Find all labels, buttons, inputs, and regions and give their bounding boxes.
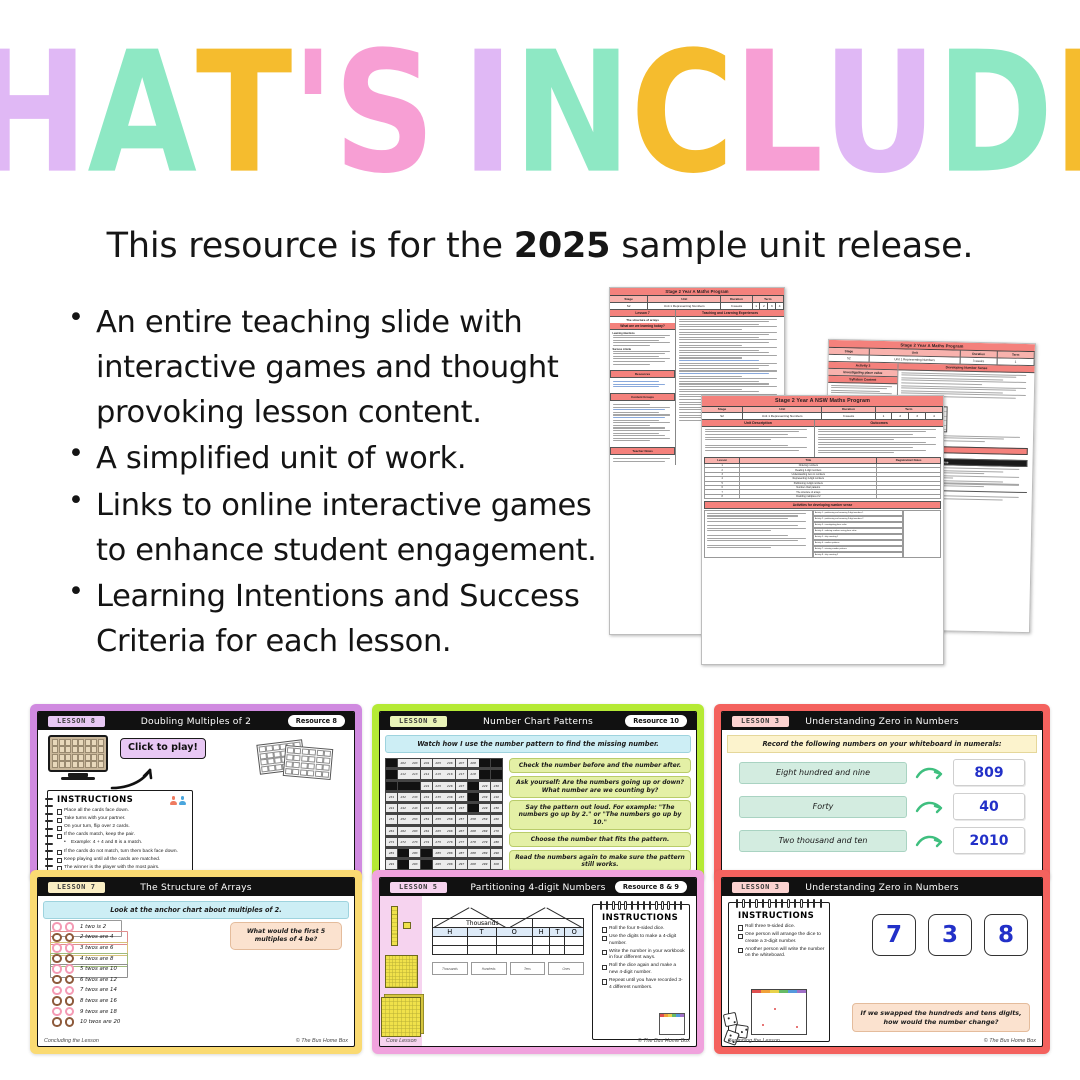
col-stage: Stage: [610, 296, 648, 302]
instruction-banner: Look at the anchor chart about multiples…: [43, 901, 349, 919]
feature-bullet: Learning Intentions and Success Criteria…: [62, 574, 622, 664]
digit-box[interactable]: 8: [984, 914, 1028, 956]
chart-cell[interactable]: 296: [444, 860, 455, 868]
anchor-row-label: 10 twos are 20: [80, 1019, 120, 1025]
donut-counter-icon: [65, 964, 75, 974]
thought-bubble-question: What would the first 5 multiples of 4 be…: [230, 922, 342, 950]
instruction-banner: Watch how I use the number pattern to fi…: [385, 735, 691, 753]
anchor-chart-row: 9 twos are 18: [52, 1007, 120, 1017]
document-thumbnail-cluster: Stage 2 Year A Maths Program Stage Unit …: [605, 283, 1075, 678]
chart-cell[interactable]: 255: [433, 815, 444, 823]
chart-cell[interactable]: 299: [479, 860, 490, 868]
spiral-binding-icon: [734, 899, 824, 907]
doc-a-title: Stage 2 Year A Maths Program: [610, 288, 784, 296]
instruction-item: Roll the dice again and make a new 4-dig…: [602, 963, 685, 976]
chart-cell[interactable]: 216: [444, 770, 455, 778]
val-duration: 3 weeks: [960, 358, 997, 364]
donut-counter-icon: [65, 986, 75, 996]
feature-bullet: An entire teaching slide with interactiv…: [62, 300, 622, 435]
numeral-box: 2010: [953, 827, 1025, 854]
chart-cell[interactable]: 212: [398, 770, 409, 778]
chart-cell[interactable]: 240: [491, 793, 502, 801]
chart-cell[interactable]: 260: [491, 815, 502, 823]
title-letter-4: 'S: [292, 30, 435, 197]
anchor-chart-row: 8 twos are 16: [52, 996, 120, 1006]
donut-counter-icon: [52, 954, 62, 964]
donut-counter-icon: [52, 975, 62, 985]
anchor-row-label: 1 two is 2: [80, 924, 106, 930]
pattern-tip: Say the pattern out loud. For example: "…: [509, 800, 691, 830]
chart-cell[interactable]: 230: [491, 782, 502, 790]
chart-cell[interactable]: 236: [444, 793, 455, 801]
chart-cell[interactable]: 298: [468, 860, 479, 868]
chart-cell[interactable]: 264: [421, 827, 432, 835]
chart-cell[interactable]: 239: [479, 793, 490, 801]
doc-c-activities-header: Activities for developing number sense: [704, 501, 941, 509]
numeral-box: 40: [953, 793, 1025, 820]
chart-cell-masked[interactable]: 209: [479, 759, 490, 767]
chart-cell[interactable]: 242: [398, 804, 409, 812]
anchor-chart-row: 3 twos are 6: [52, 943, 120, 953]
chart-cell[interactable]: 266: [444, 827, 455, 835]
instruction-item: If the cards do not match, turn them bac…: [57, 849, 188, 856]
val-term-1: 1: [876, 413, 893, 419]
card-footer: Concluding the Lesson © The Bus Home Box: [38, 1035, 354, 1046]
instructions-heading: INSTRUCTIONS: [738, 911, 829, 921]
chart-cell[interactable]: 278: [468, 838, 479, 846]
marker-strip: [752, 990, 806, 993]
card-pink-topbar: LESSON 5 Partitioning 4-digit Numbers Re…: [380, 878, 696, 896]
card-yellow-topbar: LESSON 7 The Structure of Arrays: [38, 878, 354, 896]
subtitle-after: sample unit release.: [610, 226, 973, 266]
doc-c-outcomes: Outcomes: [815, 420, 943, 427]
chart-cell[interactable]: 208: [468, 759, 479, 767]
chart-cell[interactable]: 291: [386, 860, 397, 868]
anchor-row-label: 9 twos are 18: [80, 1009, 117, 1015]
title-letter-5: I: [462, 30, 514, 197]
lesson-badge: LESSON 7: [47, 881, 106, 894]
val-stage: S2: [702, 413, 743, 419]
anchor-chart-row: 1 two is 2: [52, 922, 120, 932]
chart-cell-masked[interactable]: 211: [386, 770, 397, 778]
chart-cell[interactable]: 283: [409, 849, 420, 857]
lesson-badge: LESSON 5: [389, 881, 448, 894]
chart-cell[interactable]: 232: [398, 793, 409, 801]
number-word-box: Two thousand and ten: [739, 830, 907, 852]
pv-column-letter: H: [433, 928, 468, 937]
two-players-icon: [170, 796, 186, 805]
spiral-binding-icon: [598, 901, 684, 909]
pattern-tip: Read the numbers again to make sure the …: [509, 850, 691, 872]
donut-counter-icon: [65, 922, 75, 932]
chart-cell-masked[interactable]: 294: [421, 860, 432, 868]
chart-cell-masked[interactable]: 284: [421, 849, 432, 857]
chart-cell[interactable]: 293: [409, 860, 420, 868]
chart-cell[interactable]: 203: [409, 759, 420, 767]
chart-cell[interactable]: 243: [409, 804, 420, 812]
chart-cell[interactable]: 233: [409, 793, 420, 801]
curved-arrow-icon: [110, 764, 156, 790]
chart-cell-masked[interactable]: 219: [479, 770, 490, 778]
pv-column-letter: T: [550, 928, 565, 937]
slide-card-structure-of-arrays[interactable]: LESSON 7 The Structure of Arrays Look at…: [30, 870, 362, 1054]
lesson-badge: LESSON 3: [731, 881, 790, 894]
lesson-badge: LESSON 3: [731, 715, 790, 728]
donut-counter-icon: [52, 1017, 62, 1027]
anchor-chart-row: 4 twos are 8: [52, 954, 120, 964]
chart-cell[interactable]: 300: [491, 860, 502, 868]
chart-cell[interactable]: 281: [386, 849, 397, 857]
chart-cell-masked[interactable]: 238: [468, 793, 479, 801]
hundred-number-chart[interactable]: 2012022032042052062072082092102112122132…: [385, 758, 503, 872]
chart-cell[interactable]: 225: [433, 782, 444, 790]
val-duration: 3 weeks: [822, 413, 875, 419]
donut-counter-icon: [65, 975, 75, 985]
chart-cell[interactable]: 261: [386, 827, 397, 835]
instruction-item: Write the number in your workbook in fou…: [602, 949, 685, 962]
val-stage: S2: [610, 303, 648, 309]
chart-cell[interactable]: 267: [456, 827, 467, 835]
slide-card-partitioning-4-digit[interactable]: LESSON 5 Partitioning 4-digit Numbers Re…: [372, 870, 704, 1054]
chart-cell-masked[interactable]: 221: [386, 782, 397, 790]
anchor-chart-row: 7 twos are 14: [52, 986, 120, 996]
chart-cell[interactable]: 250: [491, 804, 502, 812]
chart-cell[interactable]: 224: [421, 782, 432, 790]
title-letter-2: A: [88, 30, 196, 197]
doc-c-lesson-rows: 1Ordering numbers2Reading 4-digit number…: [705, 464, 941, 499]
green-arrow-icon: [915, 765, 945, 781]
chart-cell[interactable]: 280: [491, 838, 502, 846]
title-letter-11: E: [1053, 30, 1080, 197]
val-unit: Unit 1 Representing Numbers: [743, 413, 823, 419]
pattern-tip: Ask yourself: Are the numbers going up o…: [509, 776, 691, 798]
green-tip-list: Check the number before and the number a…: [509, 758, 691, 872]
donut-counter-icon: [52, 996, 62, 1006]
chart-cell[interactable]: 218: [468, 770, 479, 778]
activity-row: Activity 8 - skip counting 2: [813, 552, 903, 558]
chart-cell[interactable]: 252: [398, 815, 409, 823]
chart-cell[interactable]: 274: [421, 838, 432, 846]
multiples-anchor-chart: 1 two is 22 twos are 43 twos are 64 twos…: [52, 922, 120, 1028]
monitor-screen: [48, 735, 108, 772]
donut-counter-icon: [65, 1017, 75, 1027]
col-stage: Stage: [829, 348, 870, 354]
chart-cell[interactable]: 290: [491, 849, 502, 857]
donut-counter-icon: [65, 996, 75, 1006]
slide-card-understanding-zero-dice[interactable]: LESSON 3 Understanding Zero in Numbers I…: [714, 870, 1050, 1054]
chart-cell[interactable]: 277: [456, 838, 467, 846]
card-red1-topbar: LESSON 3 Understanding Zero in Numbers: [722, 712, 1042, 730]
chart-cell-masked[interactable]: 222: [398, 782, 409, 790]
digit-box[interactable]: 7: [872, 914, 916, 956]
pv-small-label: Tens: [510, 962, 546, 975]
chart-cell[interactable]: 288: [468, 849, 479, 857]
computer-monitor-icon: [48, 735, 108, 781]
chart-cell[interactable]: 245: [433, 804, 444, 812]
val-term-4: 4: [776, 303, 784, 309]
instruction-item: One person will arrange the dice to crea…: [738, 932, 825, 945]
pattern-tip: Check the number before and the number a…: [509, 758, 691, 773]
anchor-row-label: 8 twos are 16: [80, 998, 117, 1004]
resource-pill: Resource 8 & 9: [614, 880, 688, 893]
instruction-item: Roll three 9-sided dice.: [738, 924, 825, 931]
chart-cell-masked[interactable]: 228: [468, 782, 479, 790]
title-letter-6: N: [513, 30, 630, 197]
subtitle-year: 2025: [514, 226, 611, 266]
val-stage: S2: [829, 355, 870, 361]
instruction-item: If the cards match, keep the pair.: [57, 832, 188, 839]
instructions-notepad: INSTRUCTIONS Place all the cards face do…: [47, 790, 193, 875]
digit-box[interactable]: 3: [928, 914, 972, 956]
resource-pill: Resource 10: [624, 714, 688, 727]
chart-cell[interactable]: 237: [456, 793, 467, 801]
pv-column-letter: O: [496, 928, 532, 937]
pv-column-letter: T: [467, 928, 496, 937]
chart-cell[interactable]: 206: [444, 759, 455, 767]
val-term-3: 3: [768, 303, 776, 309]
reflection-question: If we swapped the hundreds and tens digi…: [852, 1003, 1030, 1032]
donut-counter-icon: [65, 943, 75, 953]
place-value-chart[interactable]: Thousands HTOHTO ThousandsHundredsTensOn…: [432, 904, 584, 975]
mab-unit-block: [403, 922, 411, 930]
chart-cell[interactable]: 297: [456, 860, 467, 868]
chart-cell[interactable]: 226: [444, 782, 455, 790]
val-duration: 3 weeks: [721, 303, 752, 309]
chart-cell-masked[interactable]: 292: [398, 860, 409, 868]
red2-instruction-list: Roll three 9-sided dice.One person will …: [738, 924, 825, 960]
resource-pill: Resource 8: [287, 714, 346, 727]
instruction-item: Example: 4 + 4 and 8 is a match.: [57, 840, 188, 847]
donut-counter-icon: [52, 933, 62, 943]
val-term-2: 2: [892, 413, 909, 419]
title-letter-7: C: [631, 30, 734, 197]
chart-cell[interactable]: 257: [456, 815, 467, 823]
doc-a-teacher-notes: Teacher Notes: [610, 447, 675, 455]
col-term: Term: [753, 296, 784, 302]
chart-cell[interactable]: 279: [479, 838, 490, 846]
purple-instruction-list: Place all the cards face down.Take turns…: [57, 808, 188, 871]
anchor-row-label: 6 twos are 12: [80, 977, 117, 983]
chart-cell[interactable]: 287: [456, 849, 467, 857]
instruction-item: Repeat until you have recorded 3-4 diffe…: [602, 978, 685, 991]
footer-credit: © The Bus Home Box: [296, 1038, 348, 1044]
card-footer: Core Lesson © The Bus Home Box: [380, 1035, 696, 1046]
chart-cell[interactable]: 244: [421, 804, 432, 812]
number-word-box: Forty: [739, 796, 907, 818]
footer-left: Core Lesson: [386, 1038, 417, 1044]
whiteboard-mini-icon: [659, 1013, 685, 1035]
lesson-number: 8: [705, 494, 740, 498]
chart-cell[interactable]: 262: [398, 827, 409, 835]
doc-c-activity-list: Activity 1 - partitioning and renaming 3…: [813, 510, 903, 558]
donut-counter-icon: [65, 933, 75, 943]
chart-cell[interactable]: 214: [421, 770, 432, 778]
donut-counter-icon: [65, 1007, 75, 1017]
val-term-2: 2: [760, 303, 768, 309]
chart-cell[interactable]: 289: [479, 849, 490, 857]
col-term: Term: [998, 352, 1035, 358]
col-term: Term: [876, 407, 943, 413]
chart-cell[interactable]: 253: [409, 815, 420, 823]
pv-small-label: Thousands: [432, 962, 468, 975]
instruction-item: On your turn, flip over 2 cards.: [57, 824, 188, 831]
col-unit: Unit: [648, 296, 721, 302]
chart-cell[interactable]: 272: [398, 838, 409, 846]
anchor-row-label: 3 twos are 6: [80, 945, 113, 951]
pv-letter-row: HTOHTO: [433, 928, 584, 937]
instruction-item: Use the digits to make a 4-digit number.: [602, 934, 685, 947]
lesson-title: Doubling multiples of 2: [740, 494, 877, 498]
chart-cell[interactable]: 256: [444, 815, 455, 823]
footer-credit: © The Bus Home Box: [638, 1038, 690, 1044]
chart-cell[interactable]: 215: [433, 770, 444, 778]
col-unit: Unit: [743, 407, 823, 413]
anchor-row-label: 4 twos are 8: [80, 956, 113, 962]
chart-cell[interactable]: 269: [479, 827, 490, 835]
chart-cell[interactable]: 246: [444, 804, 455, 812]
chart-cell[interactable]: 270: [491, 827, 502, 835]
chart-cell[interactable]: 227: [456, 782, 467, 790]
chart-cell[interactable]: 268: [468, 827, 479, 835]
instruction-item: Roll the four 9-sided dice.: [602, 926, 685, 933]
chart-cell-masked[interactable]: 282: [398, 849, 409, 857]
val-term-4: 4: [926, 413, 943, 419]
chart-cell[interactable]: 217: [456, 770, 467, 778]
numeral-box: 809: [953, 759, 1025, 786]
pv-small-label: Ones: [548, 962, 584, 975]
anchor-row-label: 7 twos are 14: [80, 987, 117, 993]
pattern-tip: Choose the number that fits the pattern.: [509, 832, 691, 847]
chart-cell[interactable]: 285: [433, 849, 444, 857]
chart-cell[interactable]: 286: [444, 849, 455, 857]
doc-a-teaching-header: Teaching and Learning Experiences: [676, 310, 784, 317]
chart-cell-masked[interactable]: 248: [468, 804, 479, 812]
chart-cell[interactable]: 247: [456, 804, 467, 812]
title-letter-3: T: [196, 30, 291, 197]
card-footer: Beginning the Lesson © The Bus Home Box: [722, 1035, 1042, 1046]
green-arrow-icon: [915, 799, 945, 815]
chart-cell[interactable]: 258: [468, 815, 479, 823]
chart-cell[interactable]: 235: [433, 793, 444, 801]
pv-small-label: Hundreds: [471, 962, 507, 975]
chart-cell[interactable]: 254: [421, 815, 432, 823]
chart-cell[interactable]: 249: [479, 804, 490, 812]
number-word-box: Eight hundred and nine: [739, 762, 907, 784]
chart-cell-masked[interactable]: 210: [491, 759, 502, 767]
memory-card-stack-image: [258, 740, 338, 782]
chart-cell[interactable]: 207: [456, 759, 467, 767]
chart-cell[interactable]: 202: [398, 759, 409, 767]
chart-cell[interactable]: 295: [433, 860, 444, 868]
chart-cell[interactable]: 263: [409, 827, 420, 835]
chart-cell[interactable]: 231: [386, 793, 397, 801]
lesson-badge: LESSON 8: [47, 715, 106, 728]
chart-cell[interactable]: 275: [433, 838, 444, 846]
anchor-chart-row: 2 twos are 4: [52, 933, 120, 943]
slide-card-doubling-multiples[interactable]: LESSON 8 Doubling Multiples of 2 Resourc…: [30, 704, 362, 882]
feature-bullet: Links to online interactive games to enh…: [62, 483, 622, 573]
subtitle: This resource is for the 2025 sample uni…: [0, 226, 1080, 266]
word-numeral-row: Eight hundred and nine809: [727, 759, 1037, 786]
chart-cell[interactable]: 271: [386, 838, 397, 846]
digit-box-row: 738: [872, 914, 1028, 956]
pv-column-letter: O: [565, 928, 584, 937]
chart-roof-decor: [432, 904, 584, 918]
chart-cell[interactable]: 213: [409, 770, 420, 778]
slide-card-understanding-zero-numerals[interactable]: LESSON 3 Understanding Zero in Numbers R…: [714, 704, 1050, 882]
place-value-labels: ThousandsHundredsTensOnes: [432, 962, 584, 975]
word-numeral-row: Two thousand and ten2010: [727, 827, 1037, 854]
page-title: WHAT'SINCLUDED: [0, 34, 1080, 194]
val-term-3: 3: [909, 413, 926, 419]
spiral-binding-icon: [45, 795, 52, 875]
instructions-notepad: INSTRUCTIONS Roll three 9-sided dice.One…: [728, 902, 830, 1042]
document-thumbnail-nsw-program-page[interactable]: Stage 2 Year A NSW Maths Program Stage U…: [701, 395, 944, 665]
doc-a-column-headers: Stage Unit Duration Term: [610, 296, 784, 303]
instructions-notepad: INSTRUCTIONS Roll the four 9-sided dice.…: [592, 904, 690, 1040]
donut-counter-icon: [65, 954, 75, 964]
click-to-play-button[interactable]: Click to play!: [120, 738, 206, 759]
donut-counter-icon: [52, 1007, 62, 1017]
anchor-chart-row: 10 twos are 20: [52, 1017, 120, 1027]
doc-c-column-headers: Stage Unit Duration Term: [702, 407, 943, 414]
col-stage: Stage: [702, 407, 743, 413]
anchor-chart-row: 6 twos are 12: [52, 975, 120, 985]
val-term-1: 1: [753, 303, 761, 309]
instructions-heading: INSTRUCTIONS: [602, 913, 689, 923]
val-term: 1: [997, 358, 1034, 364]
instruction-banner: Record the following numbers on your whi…: [727, 735, 1037, 753]
marker-strip: [660, 1014, 684, 1017]
chart-cell[interactable]: 276: [444, 838, 455, 846]
chart-cell-masked[interactable]: 223: [409, 782, 420, 790]
chart-cell-masked[interactable]: 201: [386, 759, 397, 767]
chart-cell[interactable]: 241: [386, 804, 397, 812]
doc-a-learning-today: What are we learning today?: [610, 323, 675, 330]
title-letter-1: H: [0, 30, 88, 197]
doc-c-values: S2 Unit 1 Representing Numbers 3 weeks 1…: [702, 413, 943, 420]
doc-a-resources: Resources: [610, 370, 675, 378]
doc-c-title: Stage 2 Year A NSW Maths Program: [702, 396, 943, 407]
slide-card-number-chart-patterns[interactable]: LESSON 6 Number Chart Patterns Resource …: [372, 704, 704, 882]
chart-cell-masked[interactable]: 220: [491, 770, 502, 778]
anchor-chart-row: 5 twos are 10: [52, 964, 120, 974]
lesson-badge: LESSON 6: [389, 715, 448, 728]
instruction-item: Place all the cards face down.: [57, 808, 188, 815]
mab-blocks-column: [380, 896, 422, 1046]
chart-cell[interactable]: 234: [421, 793, 432, 801]
feature-bullet: A simplified unit of work.: [62, 436, 622, 481]
col-duration: Duration: [822, 407, 875, 413]
chart-cell[interactable]: 229: [479, 782, 490, 790]
chart-cell[interactable]: 251: [386, 815, 397, 823]
chart-cell[interactable]: 259: [479, 815, 490, 823]
donut-counter-icon: [52, 986, 62, 996]
subtitle-before: This resource is for the: [107, 226, 514, 266]
footer-credit: © The Bus Home Box: [984, 1038, 1036, 1044]
pink-instruction-list: Roll the four 9-sided dice.Use the digit…: [602, 926, 685, 991]
chart-cell[interactable]: 265: [433, 827, 444, 835]
registration-cell: [877, 494, 941, 498]
green-arrow-icon: [915, 833, 945, 849]
chart-cell[interactable]: 205: [433, 759, 444, 767]
anchor-row-label: 2 twos are 4: [80, 934, 113, 940]
feature-bullet-list: An entire teaching slide with interactiv…: [62, 300, 622, 665]
whiteboard-mini-icon: [751, 989, 807, 1035]
doc-a-content-groups: Content Groups: [610, 393, 675, 401]
chart-cell[interactable]: 273: [409, 838, 420, 846]
chart-cell[interactable]: 204: [421, 759, 432, 767]
